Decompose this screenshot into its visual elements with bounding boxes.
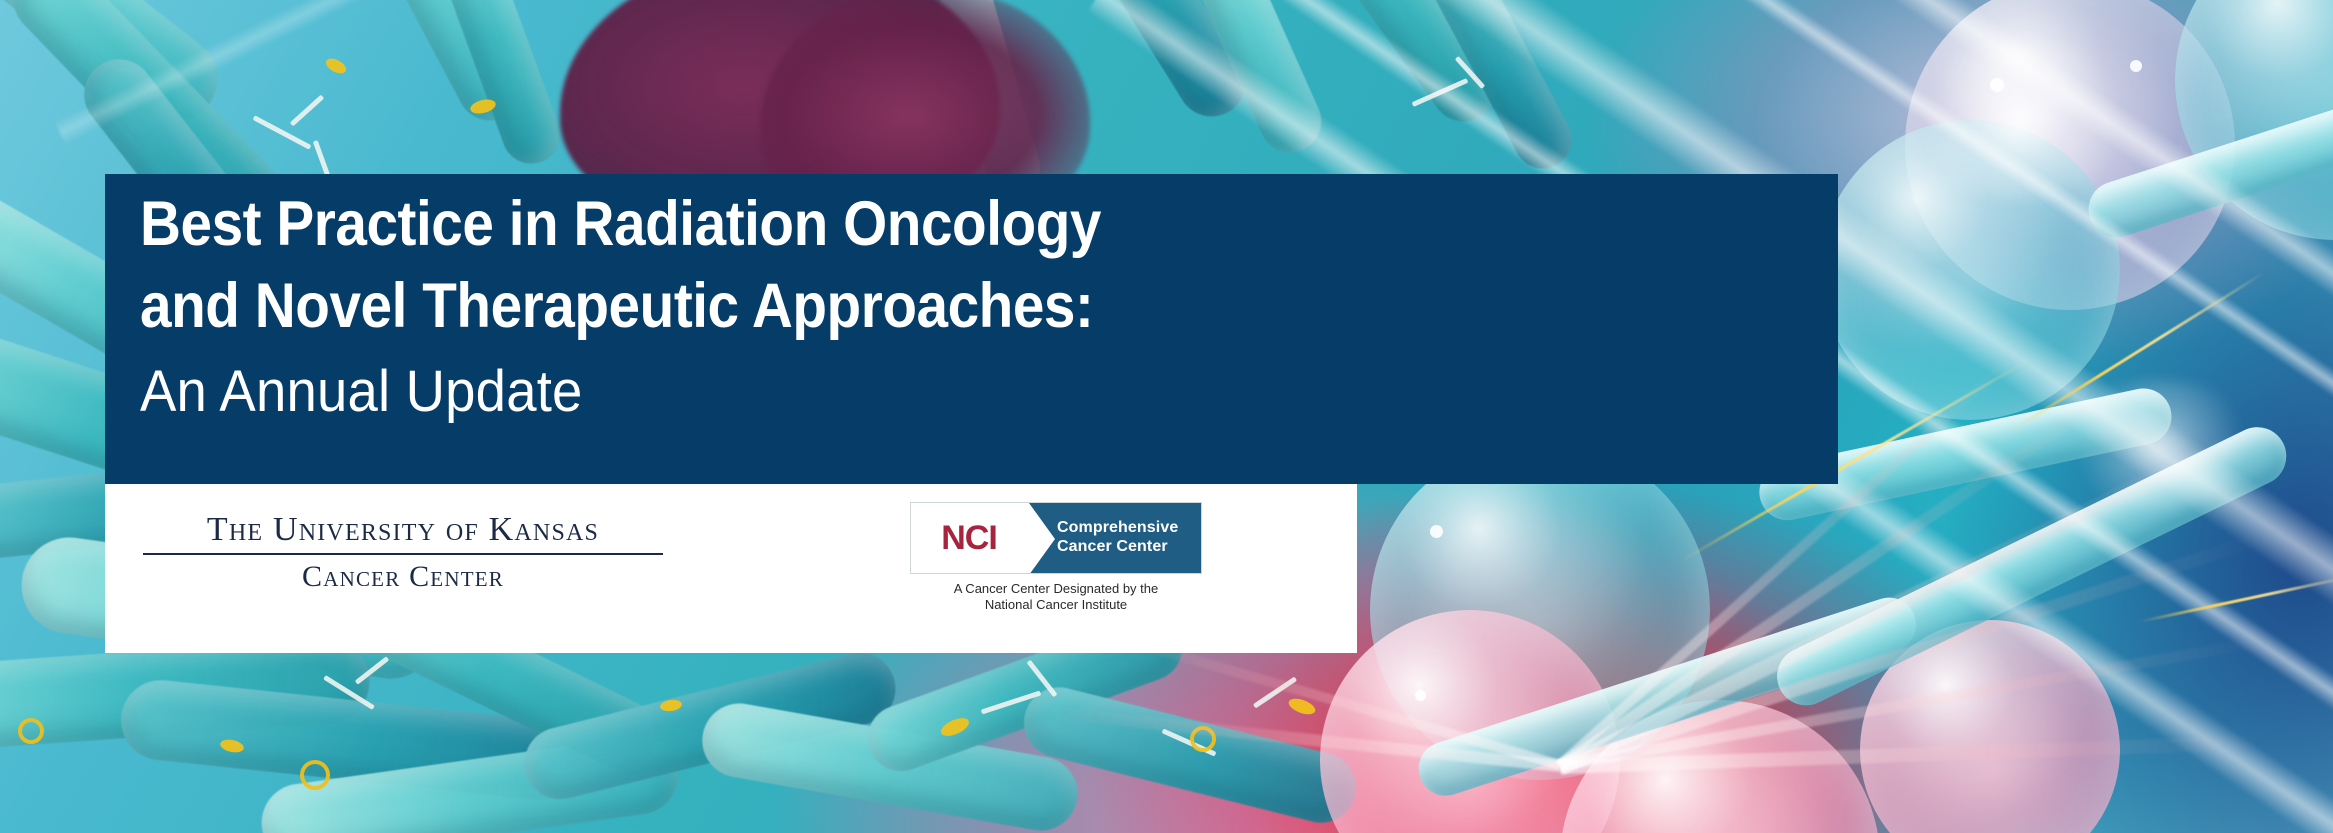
nci-mark-area: NCI [911, 503, 1029, 573]
nci-badge-line-2: Cancer Center [1057, 538, 1201, 557]
nci-badge-line-1: Comprehensive [1057, 519, 1201, 538]
banner-stage: Best Practice in Radiation Oncology and … [0, 0, 2333, 833]
ku-logo-university-line: The University of Kansas [143, 512, 663, 548]
nci-badge: NCI Comprehensive Cancer Center [910, 502, 1202, 574]
nci-comprehensive-cancer-center-logo: NCI Comprehensive Cancer Center A Cancer… [910, 502, 1270, 614]
nci-caption-line-1: A Cancer Center Designated by the [910, 581, 1202, 597]
ku-logo-cancer-center-line: Cancer Center [143, 561, 663, 593]
title-line-2: and Novel Therapeutic Approaches: [140, 270, 1093, 342]
nci-wordmark: NCI [941, 519, 997, 558]
nci-caption: A Cancer Center Designated by the Nation… [910, 581, 1202, 614]
title-line-1: Best Practice in Radiation Oncology [140, 188, 1101, 260]
title-panel: Best Practice in Radiation Oncology and … [105, 174, 1838, 484]
ku-logo-divider-rule [143, 553, 663, 555]
ku-cancer-center-logo: The University of Kansas Cancer Center [143, 512, 663, 592]
title-line-3-subtitle: An Annual Update [140, 358, 583, 425]
logo-panel: The University of Kansas Cancer Center N… [105, 484, 1357, 653]
nci-caption-line-2: National Cancer Institute [910, 597, 1202, 613]
